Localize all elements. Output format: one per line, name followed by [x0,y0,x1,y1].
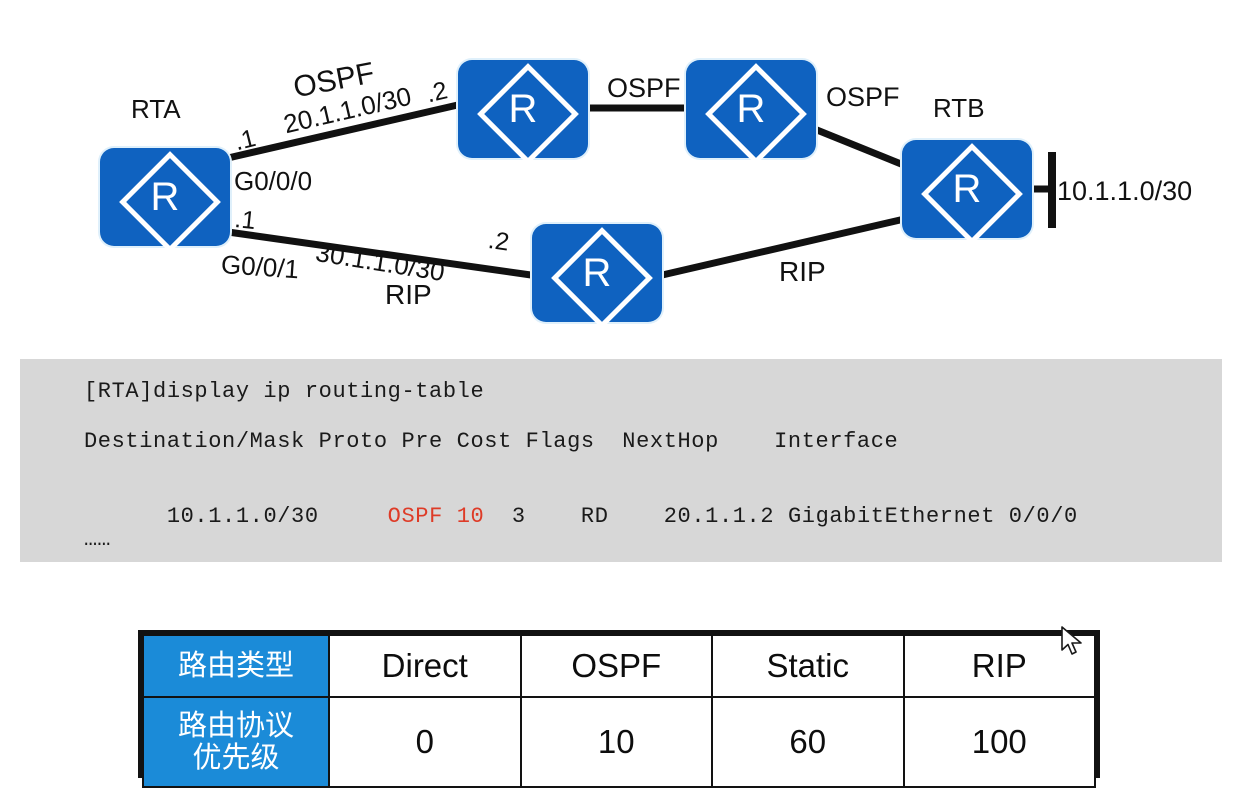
router-rta[interactable]: R [100,148,230,246]
cli-route-rest: 3 RD 20.1.1.2 GigabitEthernet 0/0/0 [484,504,1078,529]
cell-preference-ospf: 10 [521,697,713,787]
cell-route-type-ospf: OSPF [521,635,713,697]
cli-route-gap [443,504,457,529]
label-rip-left: RIP [385,281,432,309]
header-line-2: 优先级 [145,742,327,774]
label-rtb: RTB [933,95,985,121]
router-letter: R [458,60,588,158]
network-topology-diagram: R R R R R RTA RTB OSPF OSPF OSPF 20.1.1.… [0,0,1251,345]
cli-route-proto: OSPF [388,504,443,529]
cli-line-command: [RTA]display ip routing-table [84,379,484,404]
table-header-route-preference: 路由协议 优先级 [143,697,329,787]
cli-line-header: Destination/Mask Proto Pre Cost Flags Ne… [84,429,898,454]
table-row-route-type: 路由类型 Direct OSPF Static RIP [143,635,1095,697]
label-ospf-right: OSPF [826,84,900,111]
link-ospf-mid-2-to-rtb [812,128,916,170]
cli-line-route: 10.1.1.0/30 OSPF 10 3 RD 20.1.1.2 Gigabi… [84,479,1078,554]
label-interface-g001: G0/0/1 [220,251,300,282]
router-letter: R [532,224,662,322]
cli-route-destination: 10.1.1.0/30 [167,504,388,529]
label-ospf-middle: OSPF [607,75,681,102]
label-rta: RTA [131,96,181,122]
router-rtb[interactable]: R [902,140,1032,238]
label-ip-dot2-bottom: .2 [487,228,511,256]
router-rip-mid[interactable]: R [532,224,662,322]
router-ospf-mid-2[interactable]: R [686,60,816,158]
cell-preference-static: 60 [712,697,904,787]
cli-line-ellipsis: …… [84,527,110,552]
label-interface-g000: G0/0/0 [234,168,312,194]
cell-route-type-static: Static [712,635,904,697]
label-rip-right: RIP [779,258,826,286]
cli-output-panel: [RTA]display ip routing-table Destinatio… [20,359,1222,562]
label-ip-dot1-bottom: .1 [233,207,256,234]
preference-table-grid: 路由类型 Direct OSPF Static RIP 路由协议 优先级 0 1… [142,634,1096,788]
cell-preference-rip: 100 [904,697,1096,787]
cell-preference-direct: 0 [329,697,521,787]
router-letter: R [100,148,230,246]
table-header-route-type: 路由类型 [143,635,329,697]
mouse-pointer-icon [1060,626,1086,658]
slide-canvas: R R R R R RTA RTB OSPF OSPF OSPF 20.1.1.… [0,0,1251,801]
cli-route-preference: 10 [457,504,485,529]
header-line-1: 路由协议 [145,710,327,742]
label-net-10: 10.1.1.0/30 [1057,178,1192,205]
router-ospf-mid-1[interactable]: R [458,60,588,158]
router-letter: R [686,60,816,158]
table-row-route-preference: 路由协议 优先级 0 10 60 100 [143,697,1095,787]
router-letter: R [902,140,1032,238]
cell-route-type-direct: Direct [329,635,521,697]
route-preference-table: 路由类型 Direct OSPF Static RIP 路由协议 优先级 0 1… [138,630,1100,778]
